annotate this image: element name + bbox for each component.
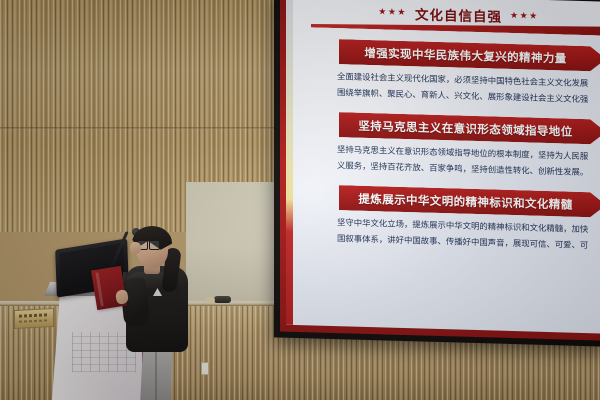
slide-banner-text: 增强实现中华民族伟大复兴的精神力量 [364,44,580,66]
slide-body: 坚守中华文化立场，提炼展示中华文明的精神标识和文化精髓，加快 国叙事体系，讲好中… [337,214,600,254]
stars-right-icon: ★★★ [510,11,539,22]
slide-block: 提炼展示中华文明的精神标识和文化精髓 坚守中华文化立场，提炼展示中华文明的精神标… [293,184,600,254]
slide-block: 增强实现中华民族伟大复兴的精神力量 全面建设社会主义现代化国家，必须坚持中国特色… [293,38,600,108]
stars-left-icon: ★★★ [378,7,407,18]
podium-nameplate [14,308,54,329]
nameplate-text-line [19,319,49,323]
photo-scene: ★★★ 文化自信自强 ★★★ 增强实现中华民族伟大复兴的精神力量 全面建设社会主… [0,0,600,400]
projection-edge-fringe [286,0,293,325]
nameplate-text-line [19,313,49,318]
presenter-at-lectern [122,225,204,400]
slide-banner-text: 提炼展示中华文明的精神标识和文化精髓 [358,190,586,212]
slide-block: 坚持马克思主义在意识形态领域指导地位 坚持马克思主义在意识形态领域指导地位的根本… [293,111,600,181]
presenter-hand [130,242,141,254]
ledge-object-light [206,297,215,303]
projection-screen: ★★★ 文化自信自强 ★★★ 增强实现中华民族伟大复兴的精神力量 全面建设社会主… [274,0,600,347]
screen-surface: ★★★ 文化自信自强 ★★★ 增强实现中华民族伟大复兴的精神力量 全面建设社会主… [286,0,600,334]
ledge-object-dark [214,296,231,303]
slide-content: ★★★ 文化自信自强 ★★★ 增强实现中华民族伟大复兴的精神力量 全面建设社会主… [293,0,600,334]
slide-body: 全面建设社会主义现代化国家，必须坚持中国特色社会主义文化发展 围绕举旗帜、聚民心… [337,68,600,108]
slide-banner-text: 坚持马克思主义在意识形态领域指导地位 [358,117,586,139]
slide-title-text: 文化自信自强 [415,3,502,25]
slide-body: 坚持马克思主义在意识形态领域指导地位的根本制度，坚持为人民服 义服务，坚持百花齐… [337,141,600,181]
